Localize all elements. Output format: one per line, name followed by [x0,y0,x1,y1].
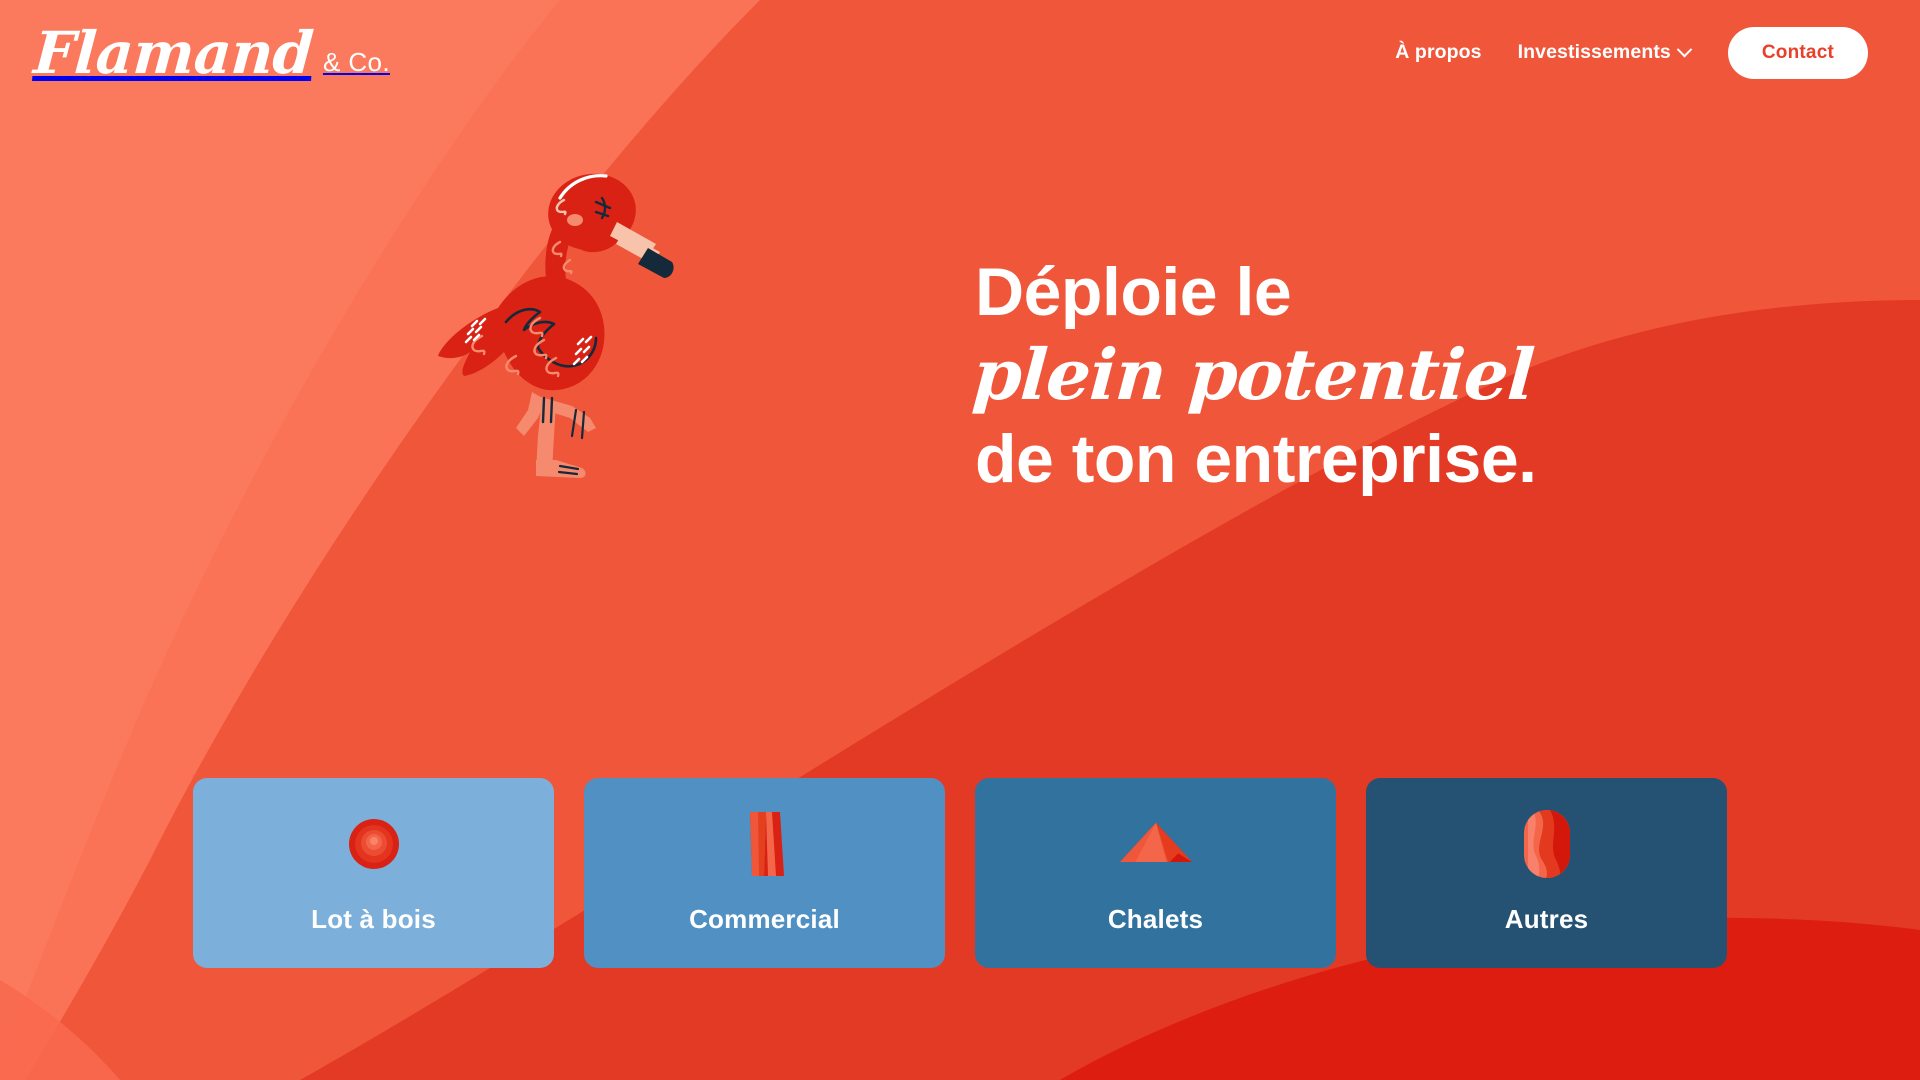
nav-item-label: À propos [1395,41,1481,64]
log-round-icon [338,808,410,880]
category-card-chalets[interactable]: Chalets [975,778,1336,968]
nav-item-label: Investissements [1518,41,1671,64]
roof-triangle-icon [1120,808,1192,880]
hero-headline: Déploie le plein potentiel de ton entrep… [975,250,1735,501]
landing-page: Flamand & Co. À propos Investissements C… [0,0,1920,1080]
brand-script-name: Flamand [32,24,315,82]
category-cards: Lot à bois Commercial [193,778,1727,968]
category-card-label: Chalets [975,904,1336,935]
building-icon [729,808,801,880]
chevron-down-icon [1677,42,1693,58]
headline-line-3: de ton entreprise. [975,417,1735,501]
category-card-label: Commercial [584,904,945,935]
headline-line-1: Déploie le [975,250,1735,334]
brand-logo[interactable]: Flamand & Co. [34,24,390,82]
capsule-shape-icon [1511,808,1583,880]
category-card-label: Lot à bois [193,904,554,935]
main-nav: À propos Investissements Contact [1377,27,1868,79]
site-header: Flamand & Co. À propos Investissements C… [0,0,1920,105]
nav-item-a-propos[interactable]: À propos [1377,31,1499,74]
headline-line-2-emphasis: plein potentiel [970,332,1738,419]
category-card-lot-a-bois[interactable]: Lot à bois [193,778,554,968]
category-card-commercial[interactable]: Commercial [584,778,945,968]
category-card-label: Autres [1366,904,1727,935]
brand-suffix: & Co. [323,47,390,78]
nav-item-investissements[interactable]: Investissements [1500,31,1708,74]
category-card-autres[interactable]: Autres [1366,778,1727,968]
contact-button[interactable]: Contact [1728,27,1868,79]
flamingo-illustration [420,160,700,490]
